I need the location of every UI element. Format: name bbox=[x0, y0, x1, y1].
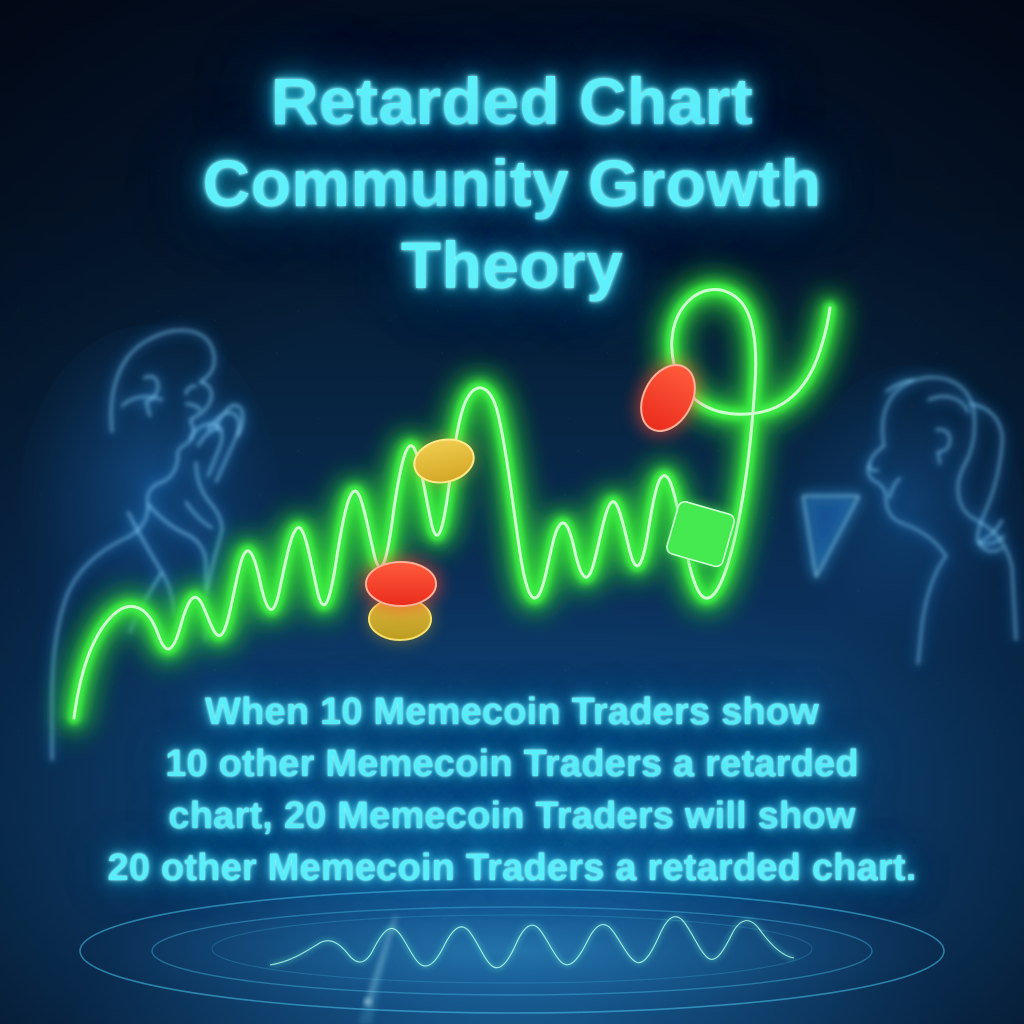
figure-listening-woman bbox=[795, 365, 1024, 675]
stage-ellipse-group bbox=[72, 881, 952, 1024]
artwork-layer bbox=[0, 0, 1024, 1024]
red-marker-lower bbox=[361, 557, 441, 611]
stage-beam-dot bbox=[365, 999, 371, 1005]
poster-canvas: Retarded Chart Community Growth Theory W… bbox=[0, 0, 1024, 1024]
